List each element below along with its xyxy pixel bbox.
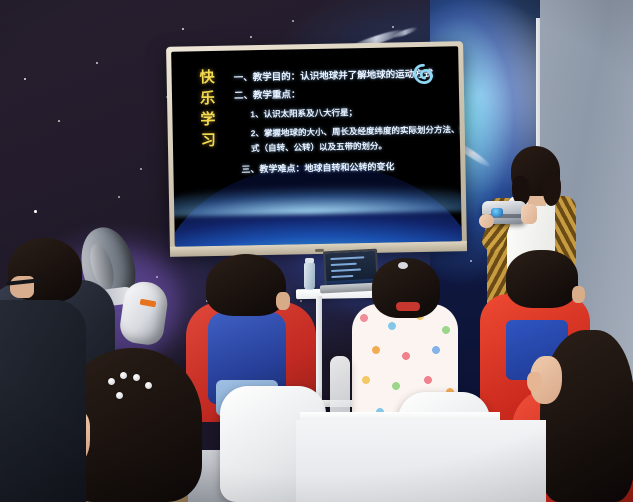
slide-line-2: 二、教学重点： [234, 86, 301, 101]
boy-head [206, 254, 286, 316]
boy-ear [276, 292, 290, 310]
wall-display[interactable]: 快 乐 学 习 一、教学目的：认识地球并了解地球的运动方式 二、教学重点： 1、… [166, 41, 467, 252]
pearl-4 [145, 382, 152, 389]
slide-line-4: 2、掌握地球的大小、周长及经度纬度的实际划分方法、运动方 [251, 123, 462, 139]
front-table-surface [296, 420, 546, 502]
presentation-slide: 快 乐 学 习 一、教学目的：认识地球并了解地球的运动方式 二、教学重点： 1、… [171, 46, 460, 183]
teacher-hand-right [521, 204, 537, 224]
girl-hair-clip [398, 262, 408, 269]
boy2-head [506, 250, 578, 308]
vtitle-char-2: 乐 [200, 88, 216, 109]
vtitle-char-3: 学 [200, 109, 216, 130]
foreground-silhouette [0, 300, 86, 502]
water-bottle [304, 262, 315, 290]
slide-line-1: 一、教学目的：认识地球并了解地球的运动方式 [234, 66, 434, 84]
pearl-3 [133, 374, 140, 381]
bottle-cap [305, 258, 314, 263]
pearl-2 [120, 372, 127, 379]
spiral-swirl-logo-icon [412, 63, 434, 85]
table-leg-left [316, 296, 322, 406]
girl2-hair [540, 330, 633, 502]
photo-scene: 快 乐 学 习 一、教学目的：认识地球并了解地球的运动方式 二、教学重点： 1、… [0, 0, 633, 502]
girl-collar-red [396, 302, 420, 311]
slide-line-6: 三、教学难点：地球自转和公转的变化 [241, 160, 394, 176]
vtitle-char-1: 快 [199, 67, 215, 88]
slide-line-3: 1、认识太阳系及八大行星； [250, 106, 357, 120]
teacher-hand-left [479, 214, 494, 228]
display-ir-sensor [314, 249, 323, 252]
display-screen: 快 乐 学 习 一、教学目的：认识地球并了解地球的运动方式 二、教学重点： 1、… [171, 46, 462, 246]
girl2-ear [527, 372, 541, 392]
boy2-ear [572, 286, 585, 303]
pearl-1 [108, 378, 115, 385]
slide-vertical-title: 快 乐 学 习 [199, 67, 217, 151]
pearl-5 [116, 392, 123, 399]
slide-line-5: 式（自转、公转）以及五带的划分。 [251, 140, 387, 155]
vtitle-char-4: 习 [201, 130, 217, 151]
